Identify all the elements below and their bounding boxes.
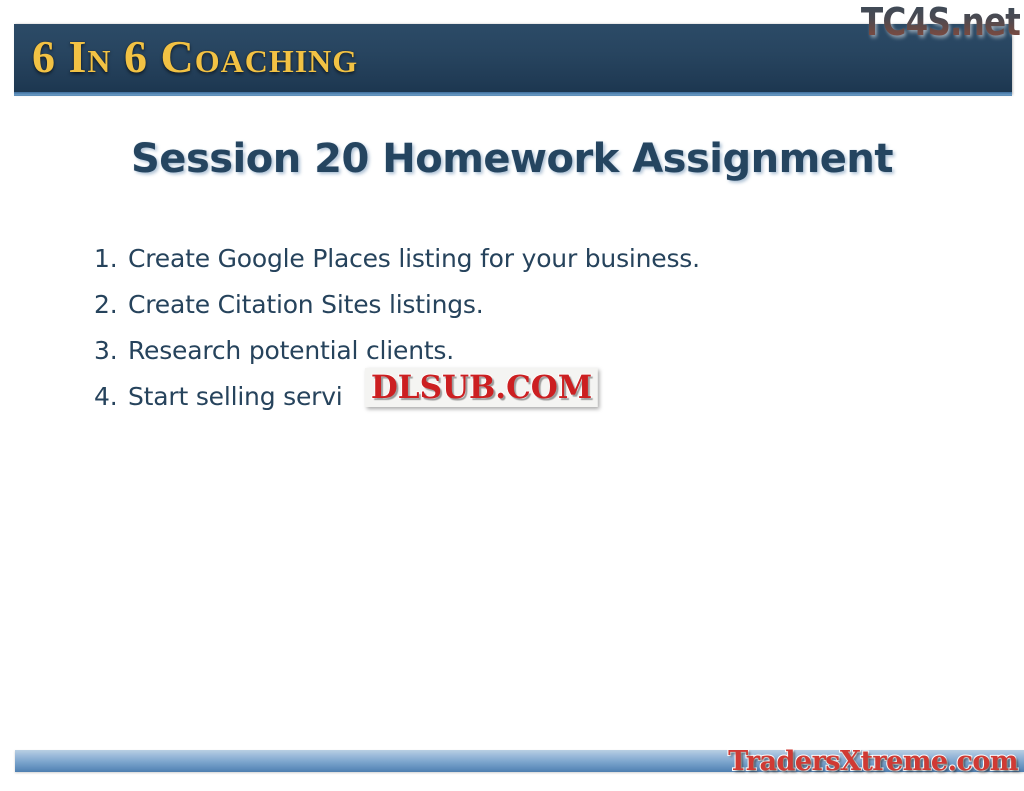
page-title: Session 20 Homework Assignment xyxy=(0,134,1024,184)
tc4s-watermark: TC4S.net xyxy=(861,2,1020,42)
list-item: 2.Create Citation Sites listings. xyxy=(94,282,934,328)
list-item-text: Create Google Places listing for your bu… xyxy=(128,244,700,273)
tradersxtreme-watermark: TradersXtreme.com xyxy=(728,746,1018,778)
list-item: 1.Create Google Places listing for your … xyxy=(94,236,934,282)
list-item-number: 4. xyxy=(94,374,128,420)
list-item-number: 3. xyxy=(94,328,128,374)
list-item-text: Create Citation Sites listings. xyxy=(128,290,484,319)
brand-title: 6 In 6 Coaching xyxy=(32,30,358,84)
list-item-number: 2. xyxy=(94,282,128,328)
slide-canvas: 6 In 6 Coaching TC4S.net Session 20 Home… xyxy=(0,0,1024,791)
list-item-text: Research potential clients. xyxy=(128,336,454,365)
dlsub-watermark: DLSUB.COM xyxy=(365,368,598,407)
list-item-number: 1. xyxy=(94,236,128,282)
list-item-text: Start selling servi xyxy=(128,382,343,411)
